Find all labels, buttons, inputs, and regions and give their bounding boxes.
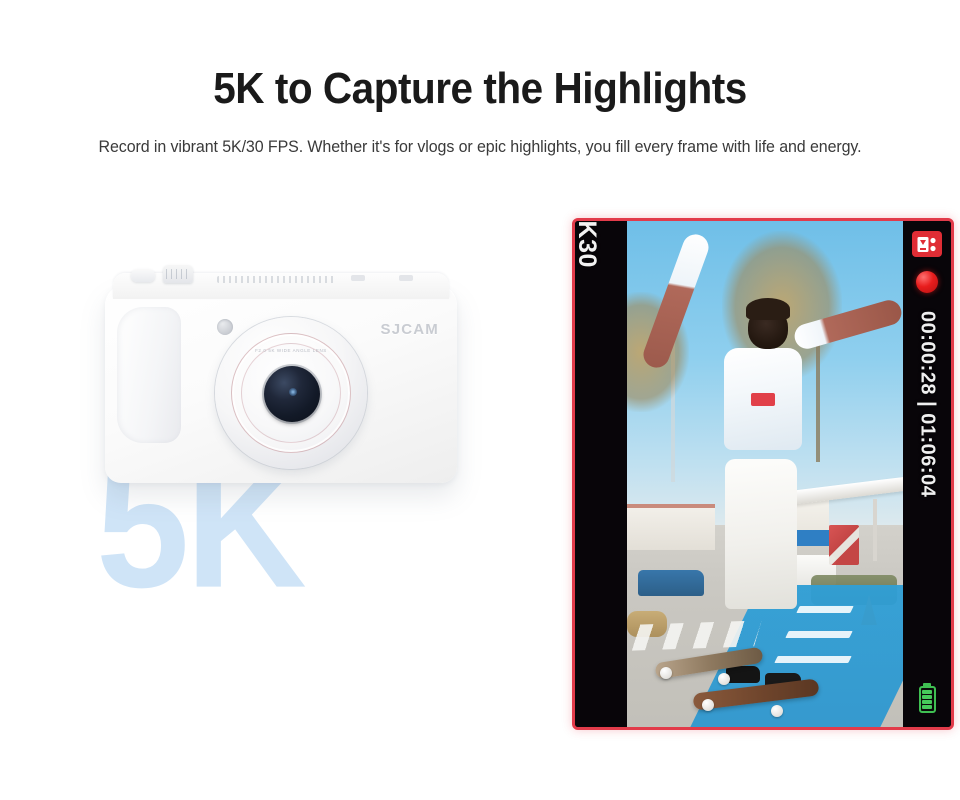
resolution-mode-label: 5K30 (572, 218, 601, 268)
sensor-led-icon (217, 319, 233, 335)
camera-handgrip (117, 307, 181, 443)
camera-viewfinder-screen[interactable]: 5K30 (572, 218, 954, 730)
skater-left-arm (640, 231, 712, 371)
lens-spec-text: F2.0 5K WIDE ANGLE LENS (255, 348, 327, 353)
header-block: 5K to Capture the Highlights Record in v… (0, 0, 960, 160)
battery-bar (922, 705, 932, 710)
skateboard-wheel (771, 705, 783, 717)
skater-hair (746, 298, 790, 320)
camera-top-notch (351, 275, 365, 281)
page-title: 5K to Capture the Highlights (38, 64, 921, 115)
camera-product-image: SJCAM F2.0 5K WIDE ANGLE LENS (105, 285, 457, 483)
lens-glass-element (264, 366, 320, 422)
lens-flare-highlight (289, 388, 297, 396)
video-mode-icon[interactable] (912, 231, 942, 257)
skateboard-wheel (660, 667, 672, 679)
battery-bar (922, 695, 932, 700)
lens-ring-inner: F2.0 5K WIDE ANGLE LENS (241, 343, 341, 443)
camera-lens-assembly: F2.0 5K WIDE ANGLE LENS (215, 317, 367, 469)
scene-skateboarder (627, 221, 903, 727)
record-indicator-icon (916, 271, 938, 293)
skateboard-wheel (718, 673, 730, 685)
skater-left-shoe (726, 666, 760, 683)
skater-right-arm (791, 297, 903, 351)
product-stage: 5K SJCAM F2.0 5K WIDE ANGLE LENS (0, 210, 560, 740)
skateboard-wheel (702, 699, 714, 711)
shutter-button (131, 269, 155, 282)
battery-full-icon (919, 686, 936, 713)
skater-shirt-logo (751, 393, 775, 406)
viewfinder-status-bar: 00:00:28 | 01:06:04 (903, 221, 951, 727)
lens-ring-outer: F2.0 5K WIDE ANGLE LENS (231, 333, 351, 453)
live-preview-image (627, 221, 903, 727)
promo-page: 5K to Capture the Highlights Record in v… (0, 0, 960, 800)
sjcam-logo: SJCAM (380, 321, 439, 338)
page-subtitle: Record in vibrant 5K/30 FPS. Whether it'… (53, 135, 907, 161)
battery-bar (922, 690, 932, 695)
recording-timecode: 00:00:28 | 01:06:04 (916, 311, 939, 497)
skater-pants (725, 459, 797, 609)
viewfinder-left-gutter: 5K30 (575, 221, 627, 727)
microphone-grille-icon (217, 276, 337, 283)
dial-grip-lines-icon (166, 269, 190, 279)
camera-top-notch (399, 275, 413, 281)
mode-dial (163, 265, 193, 283)
battery-bar (922, 700, 932, 705)
